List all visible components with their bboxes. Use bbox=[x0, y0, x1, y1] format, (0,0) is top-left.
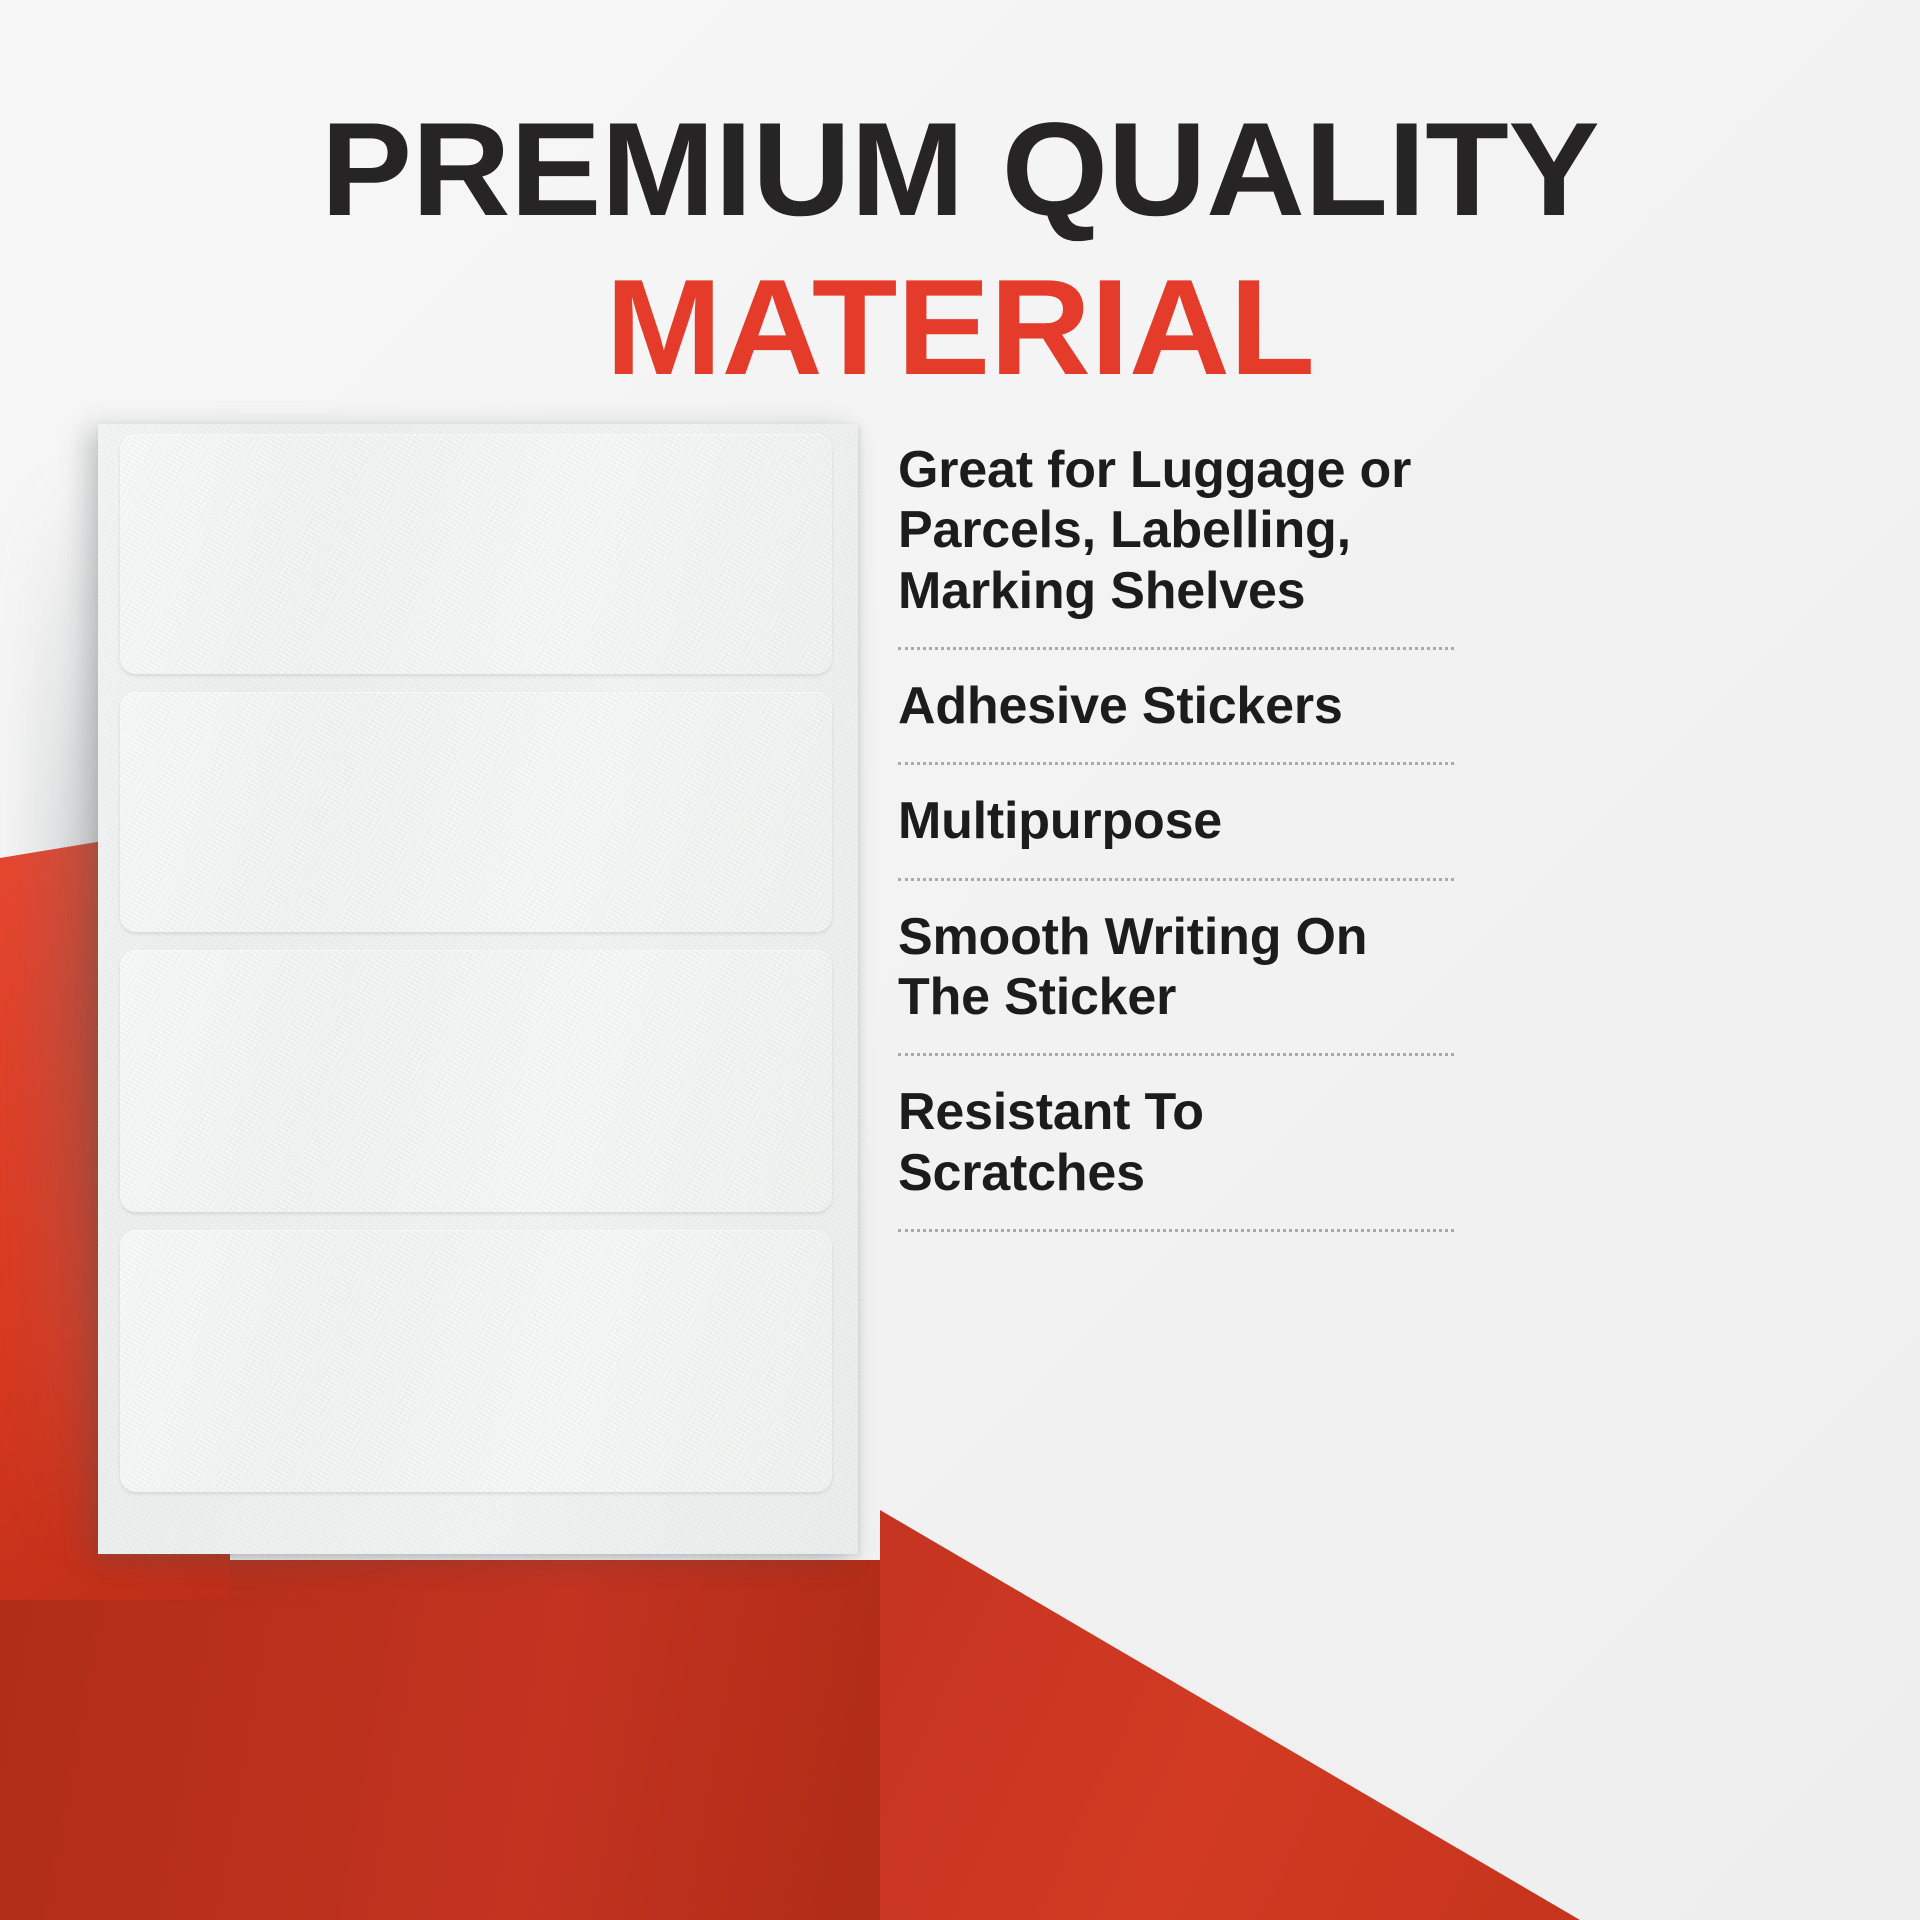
label-sheet bbox=[98, 424, 858, 1554]
feature-divider-2 bbox=[898, 762, 1454, 765]
feature-label: Adhesive Stickers bbox=[898, 676, 1454, 736]
sticker-label-4 bbox=[120, 1230, 832, 1492]
headline-line-primary: PREMIUM QUALITY bbox=[0, 104, 1920, 237]
red-triangle-bottom bbox=[820, 1480, 1920, 1920]
feature-item-resistant-to-scratches: Resistant To Scratches bbox=[898, 1082, 1454, 1203]
headline-line-accent: MATERIAL bbox=[0, 259, 1920, 395]
page-title: PREMIUM QUALITY MATERIAL bbox=[0, 104, 1920, 395]
sticker-label-2 bbox=[120, 692, 832, 932]
feature-divider-3 bbox=[898, 878, 1454, 881]
feature-list: Great for Luggage or Parcels, Labelling,… bbox=[898, 440, 1454, 1258]
feature-item-adhesive-stickers: Adhesive Stickers bbox=[898, 676, 1454, 736]
feature-item-great-for-luggage: Great for Luggage or Parcels, Labelling,… bbox=[898, 440, 1454, 621]
feature-divider-4 bbox=[898, 1053, 1454, 1056]
feature-label: Resistant To Scratches bbox=[898, 1082, 1454, 1203]
product-image bbox=[98, 424, 858, 1554]
sticker-label-3 bbox=[120, 950, 832, 1212]
feature-item-smooth-writing: Smooth Writing On The Sticker bbox=[898, 907, 1454, 1028]
feature-label: Great for Luggage or Parcels, Labelling,… bbox=[898, 440, 1454, 621]
product-feature-banner: PREMIUM QUALITY MATERIAL Great for Lugga… bbox=[0, 0, 1920, 1920]
sticker-label-1 bbox=[120, 434, 832, 674]
red-triangle-bottom-fill bbox=[0, 1560, 900, 1920]
feature-divider-1 bbox=[898, 647, 1454, 650]
feature-label: Smooth Writing On The Sticker bbox=[898, 907, 1454, 1028]
feature-label: Multipurpose bbox=[898, 791, 1454, 851]
feature-item-multipurpose: Multipurpose bbox=[898, 791, 1454, 851]
feature-divider-5 bbox=[898, 1229, 1454, 1232]
